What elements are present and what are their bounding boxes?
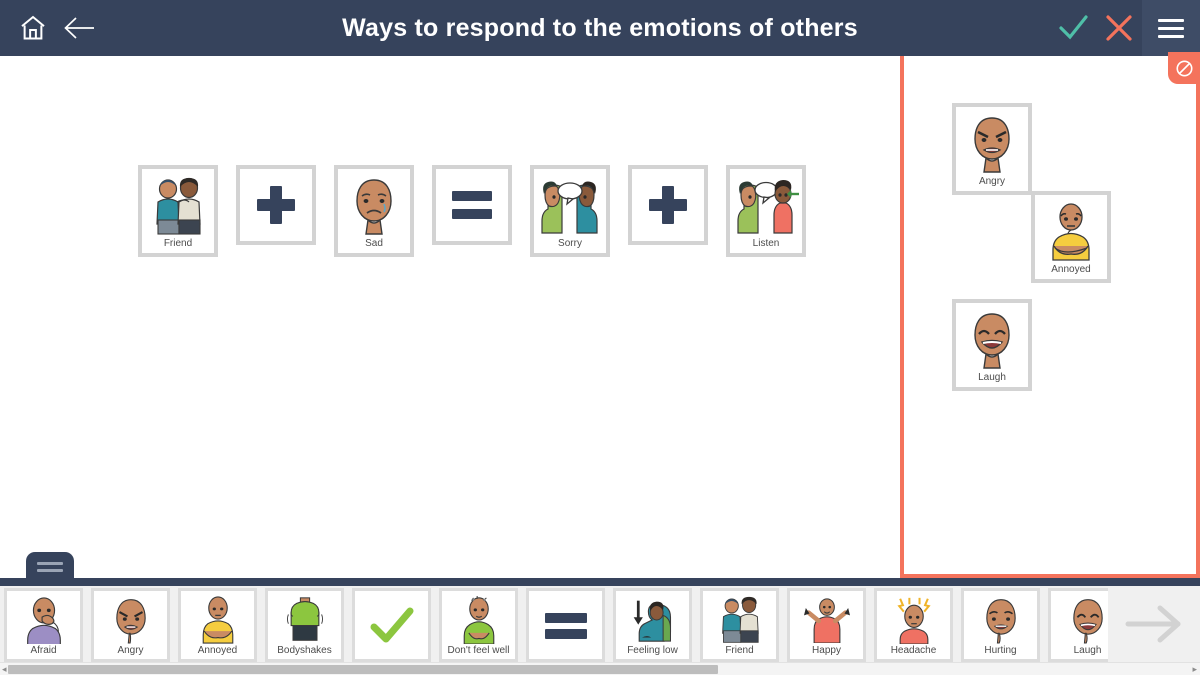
title-bar-left-controls [0, 13, 220, 43]
tile-label: Laugh [978, 372, 1006, 387]
toolbar-item-dont-feel-well[interactable]: Don't feel well [435, 586, 522, 662]
title-bar: Ways to respond to the emotions of other… [0, 0, 1200, 56]
tile-label: Angry [117, 645, 143, 659]
toolbar-item-check[interactable] [348, 586, 435, 662]
suggestion-tile-list: Angry [904, 56, 1196, 574]
equals-icon [529, 591, 602, 657]
sad-face-icon [338, 169, 410, 238]
two-people-talking-icon [534, 169, 606, 238]
symbol-toolbar-scroller[interactable]: Afraid Angry [0, 586, 1131, 662]
scrollbar-thumb[interactable] [8, 665, 718, 674]
angry-face-icon [94, 591, 167, 645]
toolbar-item-headache[interactable]: Headache [870, 586, 957, 662]
tile-label: Friend [164, 238, 192, 253]
title-bar-right-controls [980, 0, 1200, 56]
dont-feel-well-icon [442, 591, 515, 645]
toolbar-item-happy[interactable]: Happy [783, 586, 870, 662]
annoyed-arms-folded-icon [181, 591, 254, 645]
operator-tile-plus[interactable] [236, 165, 316, 245]
tile-label: Hurting [984, 645, 1016, 659]
sentence-slot[interactable]: Sorry [530, 165, 610, 257]
two-friends-icon [142, 169, 214, 238]
afraid-face-icon [7, 591, 80, 645]
suggestion-tile-annoyed[interactable]: Annoyed [1031, 191, 1111, 283]
sentence-strip: Friend [138, 165, 824, 257]
toolbar-item-bodyshakes[interactable]: Bodyshakes [261, 586, 348, 662]
tile-label: Afraid [30, 645, 56, 659]
symbol-tile[interactable]: Laugh [952, 299, 1032, 391]
hamburger-menu-icon[interactable] [1142, 0, 1200, 56]
toolbar-item-afraid[interactable]: Afraid [0, 586, 87, 662]
next-arrow-icon[interactable] [1108, 586, 1200, 662]
person-listening-icon [730, 169, 802, 238]
feeling-low-icon [616, 591, 689, 645]
back-arrow-icon[interactable] [62, 14, 96, 42]
symbol-tile-sad[interactable]: Sad [334, 165, 414, 257]
sentence-slot[interactable]: Listen [726, 165, 806, 257]
scroll-left-arrow-icon[interactable]: ◂ [2, 664, 7, 675]
suggestion-panel: Angry [900, 56, 1200, 578]
laughing-face-icon [956, 303, 1028, 372]
angry-face-icon [956, 107, 1028, 176]
symbol-tile-sorry[interactable]: Sorry [530, 165, 610, 257]
toolbar-divider [0, 578, 1200, 586]
sentence-slot[interactable] [432, 165, 512, 245]
home-icon[interactable] [18, 13, 48, 43]
operator-tile-equals[interactable] [432, 165, 512, 245]
toolbar-item-friend[interactable]: Friend [696, 586, 783, 662]
operator-tile-plus[interactable] [628, 165, 708, 245]
happy-shrug-icon [790, 591, 863, 645]
sentence-slot[interactable]: Sad [334, 165, 414, 257]
plus-icon [240, 169, 312, 241]
toolbar-scrollbar[interactable]: ◂ ▸ [0, 662, 1200, 675]
tile-label: Laugh [1074, 645, 1102, 659]
tile-label: Bodyshakes [277, 645, 331, 659]
tile-label: Sad [365, 238, 383, 253]
toolbar-item-feeling-low[interactable]: Feeling low [609, 586, 696, 662]
sentence-slot[interactable]: Friend [138, 165, 218, 257]
suggestion-tile-angry[interactable]: Angry [952, 103, 1032, 195]
workspace: Friend [0, 56, 900, 578]
scroll-right-arrow-icon[interactable]: ▸ [1192, 664, 1197, 675]
tile-label: Headache [891, 645, 937, 659]
symbol-tile[interactable]: Annoyed [1031, 191, 1111, 283]
checkmark-icon[interactable] [1050, 11, 1096, 45]
tile-label: Happy [812, 645, 841, 659]
plus-icon [632, 169, 704, 241]
equals-icon [436, 169, 508, 241]
tile-label: Sorry [558, 238, 582, 253]
green-check-icon [355, 591, 428, 657]
headache-icon [877, 591, 950, 645]
sentence-slot[interactable] [628, 165, 708, 245]
symbol-tile[interactable]: Angry [952, 103, 1032, 195]
tile-label: Don't feel well [448, 645, 510, 659]
tile-label: Annoyed [1051, 264, 1090, 279]
toolbar-item-equals[interactable] [522, 586, 609, 662]
two-friends-icon [703, 591, 776, 645]
hurting-face-icon [964, 591, 1037, 645]
symbol-tile-listen[interactable]: Listen [726, 165, 806, 257]
toolbar-item-annoyed[interactable]: Annoyed [174, 586, 261, 662]
toolbar-item-angry[interactable]: Angry [87, 586, 174, 662]
symbol-tile-friend[interactable]: Friend [138, 165, 218, 257]
symbol-toolbar: Afraid Angry [0, 586, 1200, 675]
tile-label: Annoyed [198, 645, 237, 659]
annoyed-arms-folded-icon [1035, 195, 1107, 264]
close-x-icon[interactable] [1096, 11, 1142, 45]
page-title: Ways to respond to the emotions of other… [220, 14, 980, 43]
tile-label: Feeling low [627, 645, 678, 659]
bodyshakes-icon [268, 591, 341, 645]
suggestion-tile-laugh[interactable]: Laugh [952, 299, 1032, 391]
toolbar-item-hurting[interactable]: Hurting [957, 586, 1044, 662]
tile-label: Friend [725, 645, 753, 659]
sentence-slot[interactable] [236, 165, 316, 245]
tile-label: Listen [753, 238, 780, 253]
app-root: Ways to respond to the emotions of other… [0, 0, 1200, 675]
tile-label: Angry [979, 176, 1005, 191]
